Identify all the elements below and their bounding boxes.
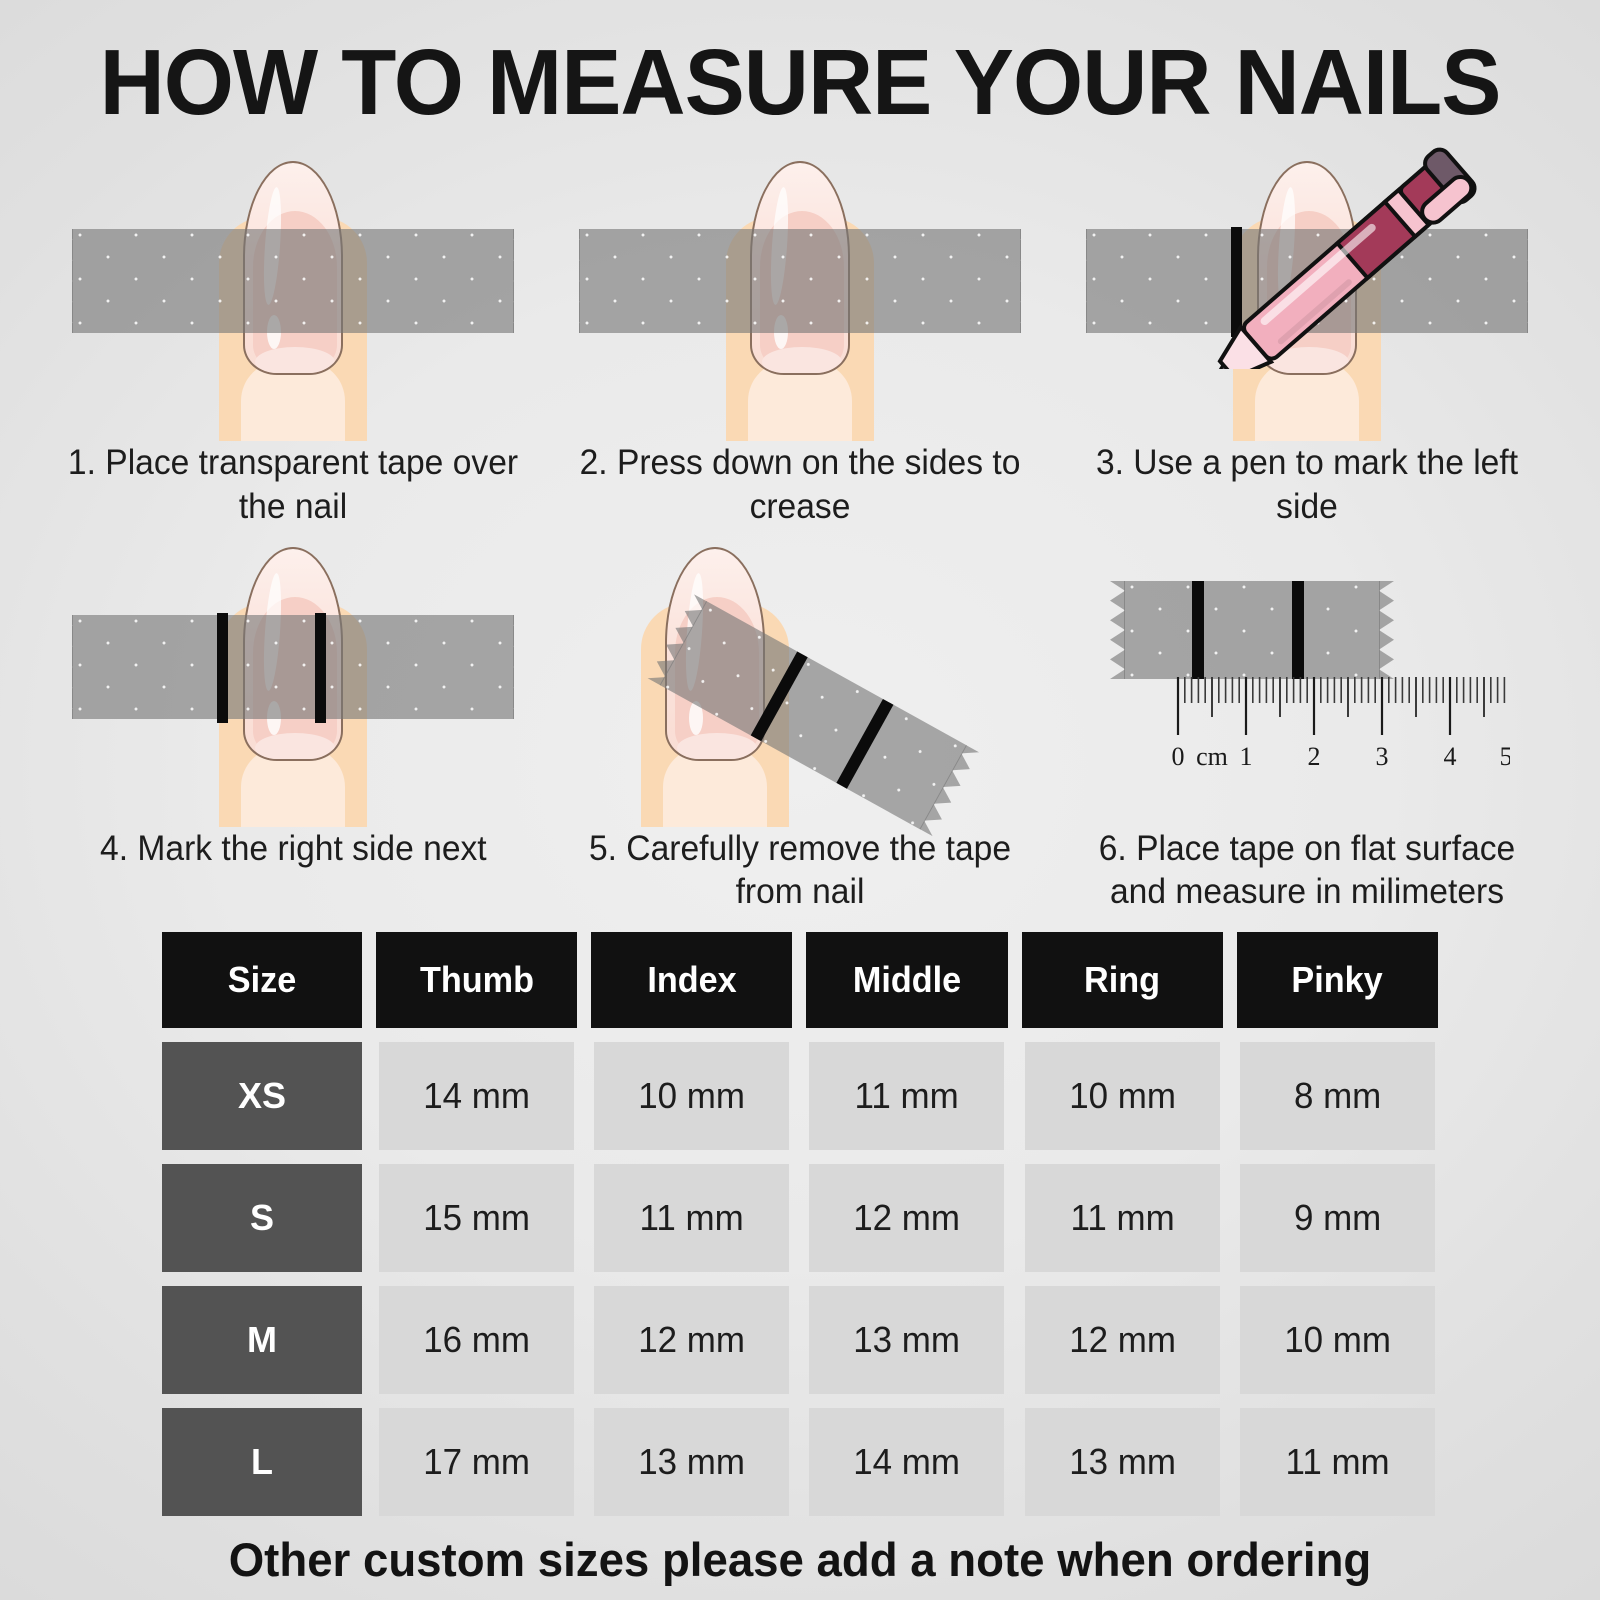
tape-strip (1086, 229, 1528, 333)
tape-zigzag-right (513, 615, 528, 719)
ruler-tick-0: 0 (1171, 742, 1184, 771)
step-2-illustration (565, 143, 1035, 433)
step-6: 0 cm 1 2 3 4 5 6. Place tape on flat sur… (1053, 529, 1560, 915)
table-row: XS 14 mm 10 mm 11 mm 10 mm 8 mm (162, 1042, 1438, 1150)
tape-zigzag-right (1379, 581, 1394, 679)
size-label-s: S (162, 1164, 362, 1272)
cell-xs-middle: 11 mm (809, 1042, 1004, 1150)
nail-tip (677, 733, 757, 761)
tape-strip-creased (579, 229, 1021, 333)
size-label-l: L (162, 1408, 362, 1516)
header-thumb-label: Thumb (420, 959, 534, 1001)
table-row: L 17 mm 13 mm 14 mm 13 mm 11 mm (162, 1408, 1438, 1516)
page-title: HOW TO MEASURE YOUR NAILS (24, 0, 1576, 129)
cell-m-pinky: 10 mm (1240, 1286, 1435, 1394)
step-5-caption: 5. Carefully remove the tape from nail (574, 827, 1025, 915)
table-row: S 15 mm 11 mm 12 mm 11 mm 9 mm (162, 1164, 1438, 1272)
header-ring: Ring (1022, 932, 1223, 1028)
ruler: 0 cm 1 2 3 4 5 (1110, 677, 1510, 807)
cell-m-middle: 13 mm (809, 1286, 1004, 1394)
header-index-label: Index (647, 959, 736, 1001)
step-1-caption: 1. Place transparent tape over the nail (68, 441, 519, 529)
cell-l-pinky: 11 mm (1240, 1408, 1435, 1516)
step-2: 2. Press down on the sides to crease (547, 143, 1054, 529)
tape-zigzag-right (1020, 229, 1035, 333)
header-thumb: Thumb (376, 932, 577, 1028)
size-label-xs: XS (162, 1042, 362, 1150)
size-label-m: M (162, 1286, 362, 1394)
header-pinky: Pinky (1237, 932, 1438, 1028)
cell-xs-ring: 10 mm (1025, 1042, 1220, 1150)
tape-zigzag-right (1527, 229, 1542, 333)
step-3-caption: 3. Use a pen to mark the left side (1081, 441, 1532, 529)
step-1-illustration (58, 143, 528, 433)
tape-dot-texture (1124, 581, 1380, 679)
footer-note: Other custom sizes please add a note whe… (24, 1532, 1576, 1587)
ruler-tick-5: 5 (1499, 742, 1510, 771)
cell-m-thumb: 16 mm (379, 1286, 574, 1394)
cell-l-middle: 14 mm (809, 1408, 1004, 1516)
cell-l-index: 13 mm (594, 1408, 789, 1516)
tape-strip (72, 229, 514, 333)
steps-grid: 1. Place transparent tape over the nail (0, 143, 1600, 914)
ruler-tick-4: 4 (1443, 742, 1456, 771)
cell-s-middle: 12 mm (809, 1164, 1004, 1272)
cell-s-index: 11 mm (594, 1164, 789, 1272)
cell-s-thumb: 15 mm (379, 1164, 574, 1272)
step-6-caption: 6. Place tape on flat surface and measur… (1081, 827, 1532, 915)
ruler-tick-2: 2 (1307, 742, 1320, 771)
ruler-tick-1: 1 (1239, 742, 1252, 771)
tape-dot-texture (1086, 229, 1528, 333)
nail-tip (255, 733, 335, 761)
tape-dot-texture (72, 229, 514, 333)
left-mark (1192, 581, 1204, 679)
step-5-illustration (565, 529, 1035, 819)
table-row: M 16 mm 12 mm 13 mm 12 mm 10 mm (162, 1286, 1438, 1394)
tape-zigzag-left (1110, 581, 1125, 679)
step-2-caption: 2. Press down on the sides to crease (574, 441, 1025, 529)
cell-m-index: 12 mm (594, 1286, 789, 1394)
cell-xs-pinky: 8 mm (1240, 1042, 1435, 1150)
right-mark (315, 613, 326, 723)
cell-l-ring: 13 mm (1025, 1408, 1220, 1516)
cell-s-pinky: 9 mm (1240, 1164, 1435, 1272)
tape-zigzag-left (1072, 229, 1087, 333)
right-mark (1292, 581, 1304, 679)
step-1: 1. Place transparent tape over the nail (40, 143, 547, 529)
header-size: Size (162, 932, 362, 1028)
tape-strip (72, 615, 514, 719)
left-mark (217, 613, 228, 723)
tape-zigzag-left (58, 615, 73, 719)
tape-zigzag-left (565, 229, 580, 333)
ruler-tick-3: 3 (1375, 742, 1388, 771)
size-table: Size Thumb Index Middle Ring Pinky XS 14… (162, 932, 1438, 1516)
step-6-illustration: 0 cm 1 2 3 4 5 (1072, 529, 1542, 819)
tape-zigzag-left (58, 229, 73, 333)
nail-tip (762, 347, 842, 375)
cell-m-ring: 12 mm (1025, 1286, 1220, 1394)
header-size-label: Size (228, 959, 296, 1001)
step-4: 4. Mark the right side next (40, 529, 547, 915)
tape-dot-texture (579, 229, 1021, 333)
cell-l-thumb: 17 mm (379, 1408, 574, 1516)
header-ring-label: Ring (1084, 959, 1160, 1001)
cell-xs-index: 10 mm (594, 1042, 789, 1150)
nail-tip (1269, 347, 1349, 375)
step-3-illustration (1072, 143, 1542, 433)
tape-dot-texture (72, 615, 514, 719)
cell-xs-thumb: 14 mm (379, 1042, 574, 1150)
tape-strip-flat (1124, 581, 1380, 679)
step-4-caption: 4. Mark the right side next (100, 827, 487, 871)
step-5: 5. Carefully remove the tape from nail (547, 529, 1054, 915)
step-3: 3. Use a pen to mark the left side (1053, 143, 1560, 529)
step-4-illustration (58, 529, 528, 819)
left-mark (1231, 227, 1242, 337)
header-middle: Middle (806, 932, 1007, 1028)
header-index: Index (591, 932, 792, 1028)
cell-s-ring: 11 mm (1025, 1164, 1220, 1272)
ruler-unit-label: cm (1196, 742, 1228, 771)
nail-tip (255, 347, 335, 375)
header-middle-label: Middle (853, 959, 961, 1001)
tape-zigzag-right (513, 229, 528, 333)
header-pinky-label: Pinky (1292, 959, 1383, 1001)
table-header-row: Size Thumb Index Middle Ring Pinky (162, 932, 1438, 1028)
